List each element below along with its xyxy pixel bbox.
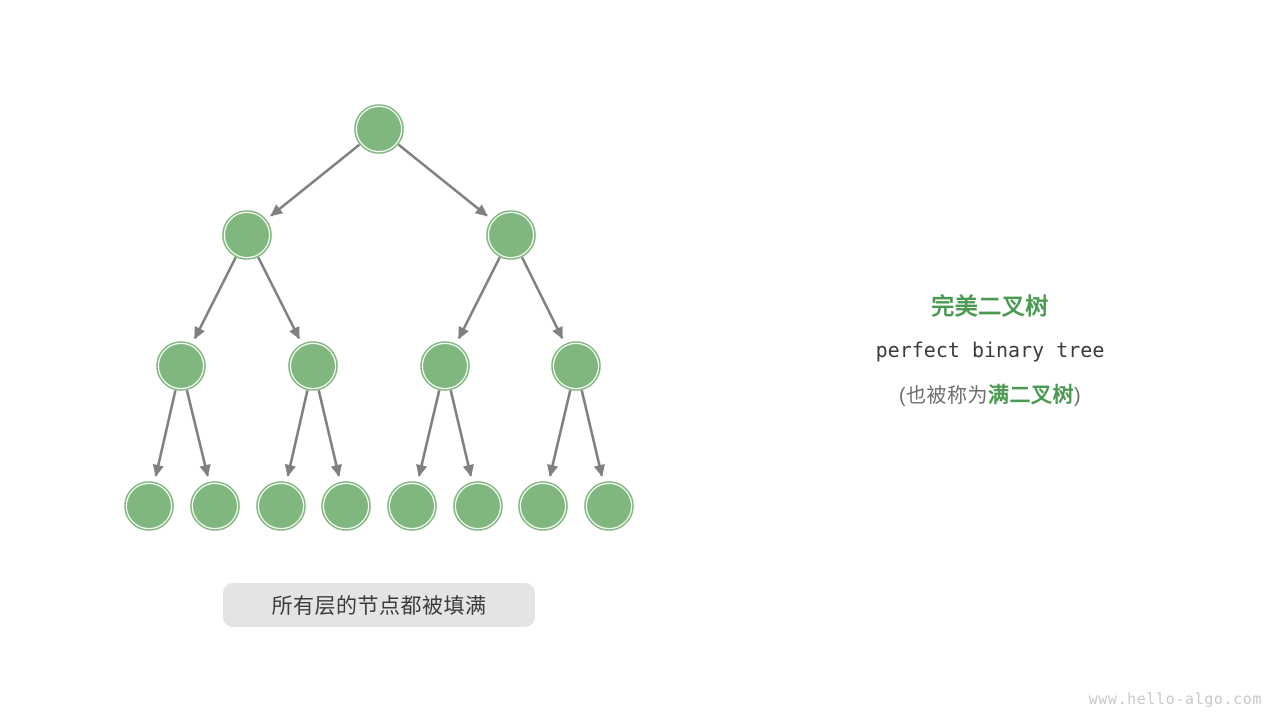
tree-node[interactable] xyxy=(552,342,600,390)
tree-node-disc xyxy=(423,344,467,388)
tree-node-disc xyxy=(390,484,434,528)
tree-node-disc xyxy=(225,213,269,257)
tree-node-disc xyxy=(324,484,368,528)
tree-node-disc xyxy=(489,213,533,257)
tree-node-disc xyxy=(291,344,335,388)
tree-edge xyxy=(156,390,176,475)
caption-label: 所有层的节点都被填满 xyxy=(272,590,487,620)
tree-edge xyxy=(522,257,562,338)
diagram-canvas: 所有层的节点都被填满 完美二叉树 perfect binary tree (也被… xyxy=(0,0,1280,720)
tree-node[interactable] xyxy=(223,211,271,259)
tree-edge xyxy=(398,145,486,216)
tree-node[interactable] xyxy=(355,105,403,153)
tree-node-disc xyxy=(357,107,401,151)
tree-edge xyxy=(319,390,339,475)
tree-node[interactable] xyxy=(388,482,436,530)
tree-edge xyxy=(550,390,570,475)
legend-title: 完美二叉树 xyxy=(790,292,1190,321)
tree-node[interactable] xyxy=(519,482,567,530)
tree-node-disc xyxy=(127,484,171,528)
legend-alias-suffix: ) xyxy=(1074,385,1081,407)
tree-node-disc xyxy=(521,484,565,528)
tree-node[interactable] xyxy=(289,342,337,390)
tree-node[interactable] xyxy=(257,482,305,530)
watermark: www.hello-algo.com xyxy=(1089,690,1262,708)
tree-edge xyxy=(582,390,602,475)
tree-edge xyxy=(187,390,208,476)
tree-edges xyxy=(156,145,602,476)
tree-node-disc xyxy=(159,344,203,388)
tree-node[interactable] xyxy=(191,482,239,530)
tree-node[interactable] xyxy=(322,482,370,530)
legend-subtitle: perfect binary tree xyxy=(790,338,1190,362)
tree-edge xyxy=(451,390,471,475)
tree-node-disc xyxy=(193,484,237,528)
tree-node[interactable] xyxy=(487,211,535,259)
tree-nodes xyxy=(125,105,633,530)
tree-node-disc xyxy=(587,484,631,528)
tree-edge xyxy=(195,257,236,338)
legend-block: 完美二叉树 perfect binary tree (也被称为满二叉树) xyxy=(790,292,1190,409)
tree-node[interactable] xyxy=(157,342,205,390)
caption-badge: 所有层的节点都被填满 xyxy=(223,583,535,627)
tree-node[interactable] xyxy=(421,342,469,390)
tree-edge xyxy=(288,390,308,475)
legend-alias: (也被称为满二叉树) xyxy=(790,379,1190,409)
tree-edge xyxy=(271,145,359,216)
tree-edge xyxy=(459,257,500,338)
tree-node-disc xyxy=(554,344,598,388)
tree-node-disc xyxy=(259,484,303,528)
tree-node-disc xyxy=(456,484,500,528)
tree-node[interactable] xyxy=(585,482,633,530)
tree-edge xyxy=(419,390,439,475)
legend-alias-strong: 满二叉树 xyxy=(988,384,1074,407)
tree-node[interactable] xyxy=(125,482,173,530)
legend-alias-prefix: (也被称为 xyxy=(899,385,988,407)
tree-node[interactable] xyxy=(454,482,502,530)
tree-edge xyxy=(258,257,299,338)
